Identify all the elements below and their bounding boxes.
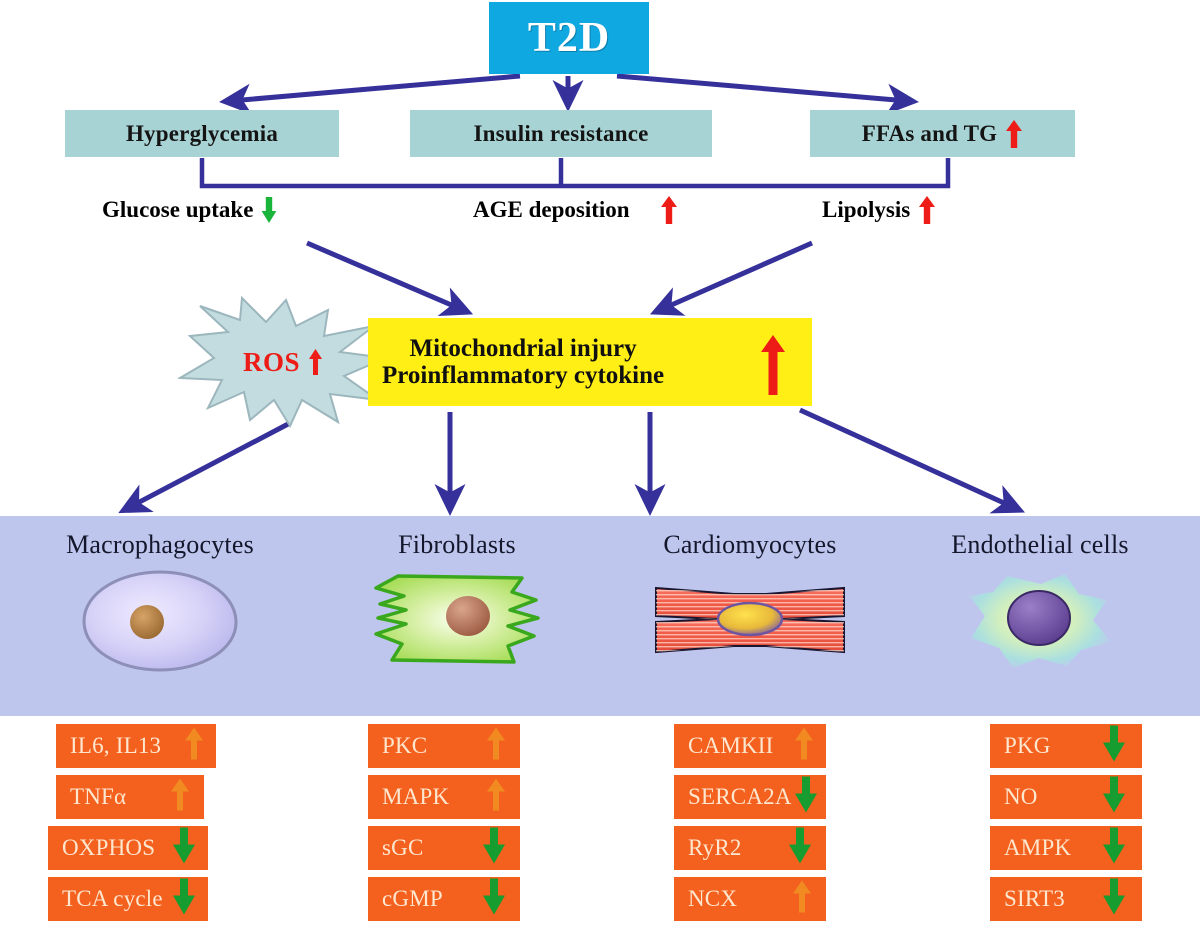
up-arrow-red-tall-icon	[760, 334, 786, 401]
down-arrow-green-icon	[788, 827, 812, 870]
marker-label: TNFα	[56, 784, 126, 810]
lipolysis-label: Lipolysis	[822, 197, 910, 223]
up-arrow-orange-icon	[792, 880, 812, 919]
cell-column-cardiomyocytes: Cardiomyocytes	[600, 516, 900, 716]
up-arrow-red-icon	[918, 195, 936, 225]
fibroblast-cell-icon	[362, 566, 552, 679]
cell-title-cardiomyocytes: Cardiomyocytes	[663, 530, 836, 560]
marker-label: OXPHOS	[48, 835, 155, 861]
marker-label: MAPK	[368, 784, 449, 810]
ros-label-wrap: ROS	[178, 296, 388, 428]
marker-row[interactable]: PKG	[990, 724, 1142, 768]
marker-row[interactable]: TCA cycle	[48, 877, 208, 921]
glucose-uptake-item: Glucose uptake	[102, 194, 277, 226]
down-arrow-green-icon	[172, 827, 196, 870]
mitochondrial-injury-box[interactable]: Mitochondrial injury Proinflammatory cyt…	[368, 318, 812, 406]
marker-label: cGMP	[368, 886, 443, 912]
marker-label: NO	[990, 784, 1038, 810]
insulin-resistance-label: Insulin resistance	[473, 121, 648, 147]
mito-line-2: Proinflammatory cytokine	[382, 362, 664, 389]
marker-label: AMPK	[990, 835, 1071, 861]
marker-label: PKC	[368, 733, 427, 759]
marker-label: NCX	[674, 886, 737, 912]
marker-label: TCA cycle	[48, 886, 163, 912]
marker-row[interactable]: NO	[990, 775, 1142, 819]
age-deposition-label: AGE deposition	[473, 197, 630, 223]
down-arrow-green-icon	[261, 196, 277, 224]
marker-label: RyR2	[674, 835, 742, 861]
marker-stack-cardiomyocytes: CAMKII SERCA2A RyR2 NCX	[674, 724, 974, 928]
up-arrow-orange-icon	[486, 778, 506, 817]
marker-stack-fibroblasts: PKC MAPK sGC cGMP	[368, 724, 668, 928]
down-arrow-green-icon	[794, 776, 818, 819]
lipolysis-item: Lipolysis	[822, 194, 936, 226]
marker-row[interactable]: MAPK	[368, 775, 520, 819]
up-arrow-orange-icon	[184, 727, 204, 766]
marker-row[interactable]: SERCA2A	[674, 775, 826, 819]
marker-row[interactable]: RyR2	[674, 826, 826, 870]
marker-label: IL6, IL13	[56, 733, 161, 759]
marker-label: SERCA2A	[674, 784, 792, 810]
marker-row[interactable]: AMPK	[990, 826, 1142, 870]
macrophage-cell-icon	[75, 566, 245, 681]
cell-types-band: Macrophagocytes	[0, 516, 1200, 716]
marker-label: sGC	[368, 835, 424, 861]
marker-label: PKG	[990, 733, 1051, 759]
down-arrow-green-icon	[172, 878, 196, 921]
cardiomyocyte-cell-icon	[650, 566, 850, 679]
t2d-label: T2D	[528, 17, 610, 59]
marker-label: CAMKII	[674, 733, 774, 759]
hyperglycemia-label: Hyperglycemia	[126, 121, 278, 147]
up-arrow-orange-icon	[170, 778, 190, 817]
cell-column-endothelial-cells: Endothelial cells	[890, 516, 1190, 716]
endothelial-cell-icon	[955, 566, 1125, 679]
marker-row[interactable]: OXPHOS	[48, 826, 208, 870]
ros-burst: ROS	[178, 296, 388, 428]
diagram-canvas: T2D Hyperglycemia Insulin resistance FFA…	[0, 0, 1200, 921]
up-arrow-red-icon	[308, 348, 323, 376]
marker-row[interactable]: cGMP	[368, 877, 520, 921]
down-arrow-green-icon	[482, 878, 506, 921]
mito-text-block: Mitochondrial injury Proinflammatory cyt…	[382, 335, 664, 389]
down-arrow-green-icon	[482, 827, 506, 870]
marker-row[interactable]: CAMKII	[674, 724, 826, 768]
marker-row[interactable]: NCX	[674, 877, 826, 921]
mito-line-1: Mitochondrial injury	[410, 335, 637, 362]
down-arrow-green-icon	[1102, 776, 1126, 819]
marker-row[interactable]: TNFα	[56, 775, 204, 819]
glucose-uptake-label: Glucose uptake	[102, 197, 253, 223]
down-arrow-green-icon	[1102, 827, 1126, 870]
marker-row[interactable]: sGC	[368, 826, 520, 870]
up-arrow-orange-icon	[486, 727, 506, 766]
hyperglycemia-box[interactable]: Hyperglycemia	[65, 110, 339, 157]
cell-title-macrophagocytes: Macrophagocytes	[66, 530, 254, 560]
marker-stack-endothelial-cells: PKG NO AMPK SIRT3	[990, 724, 1200, 928]
up-arrow-orange-icon	[794, 727, 814, 766]
down-arrow-green-icon	[1102, 725, 1126, 768]
age-deposition-item: AGE deposition	[473, 194, 678, 226]
marker-row[interactable]: SIRT3	[990, 877, 1142, 921]
t2d-box[interactable]: T2D	[489, 2, 649, 74]
ffas-tg-label: FFAs and TG	[862, 121, 998, 147]
cell-title-endothelial-cells: Endothelial cells	[951, 530, 1128, 560]
up-arrow-red-icon	[1005, 119, 1023, 149]
cell-column-macrophagocytes: Macrophagocytes	[10, 516, 310, 716]
ffas-tg-box[interactable]: FFAs and TG	[810, 110, 1075, 157]
marker-stack-macrophagocytes: IL6, IL13 TNFα OXPHOS TCA cycle	[56, 724, 356, 928]
cell-title-fibroblasts: Fibroblasts	[398, 530, 516, 560]
down-arrow-green-icon	[1102, 878, 1126, 921]
marker-row[interactable]: IL6, IL13	[56, 724, 216, 768]
marker-label: SIRT3	[990, 886, 1065, 912]
insulin-resistance-box[interactable]: Insulin resistance	[410, 110, 712, 157]
up-arrow-red-icon	[660, 195, 678, 225]
marker-row[interactable]: PKC	[368, 724, 520, 768]
ros-label: ROS	[243, 347, 300, 378]
cell-column-fibroblasts: Fibroblasts	[307, 516, 607, 716]
